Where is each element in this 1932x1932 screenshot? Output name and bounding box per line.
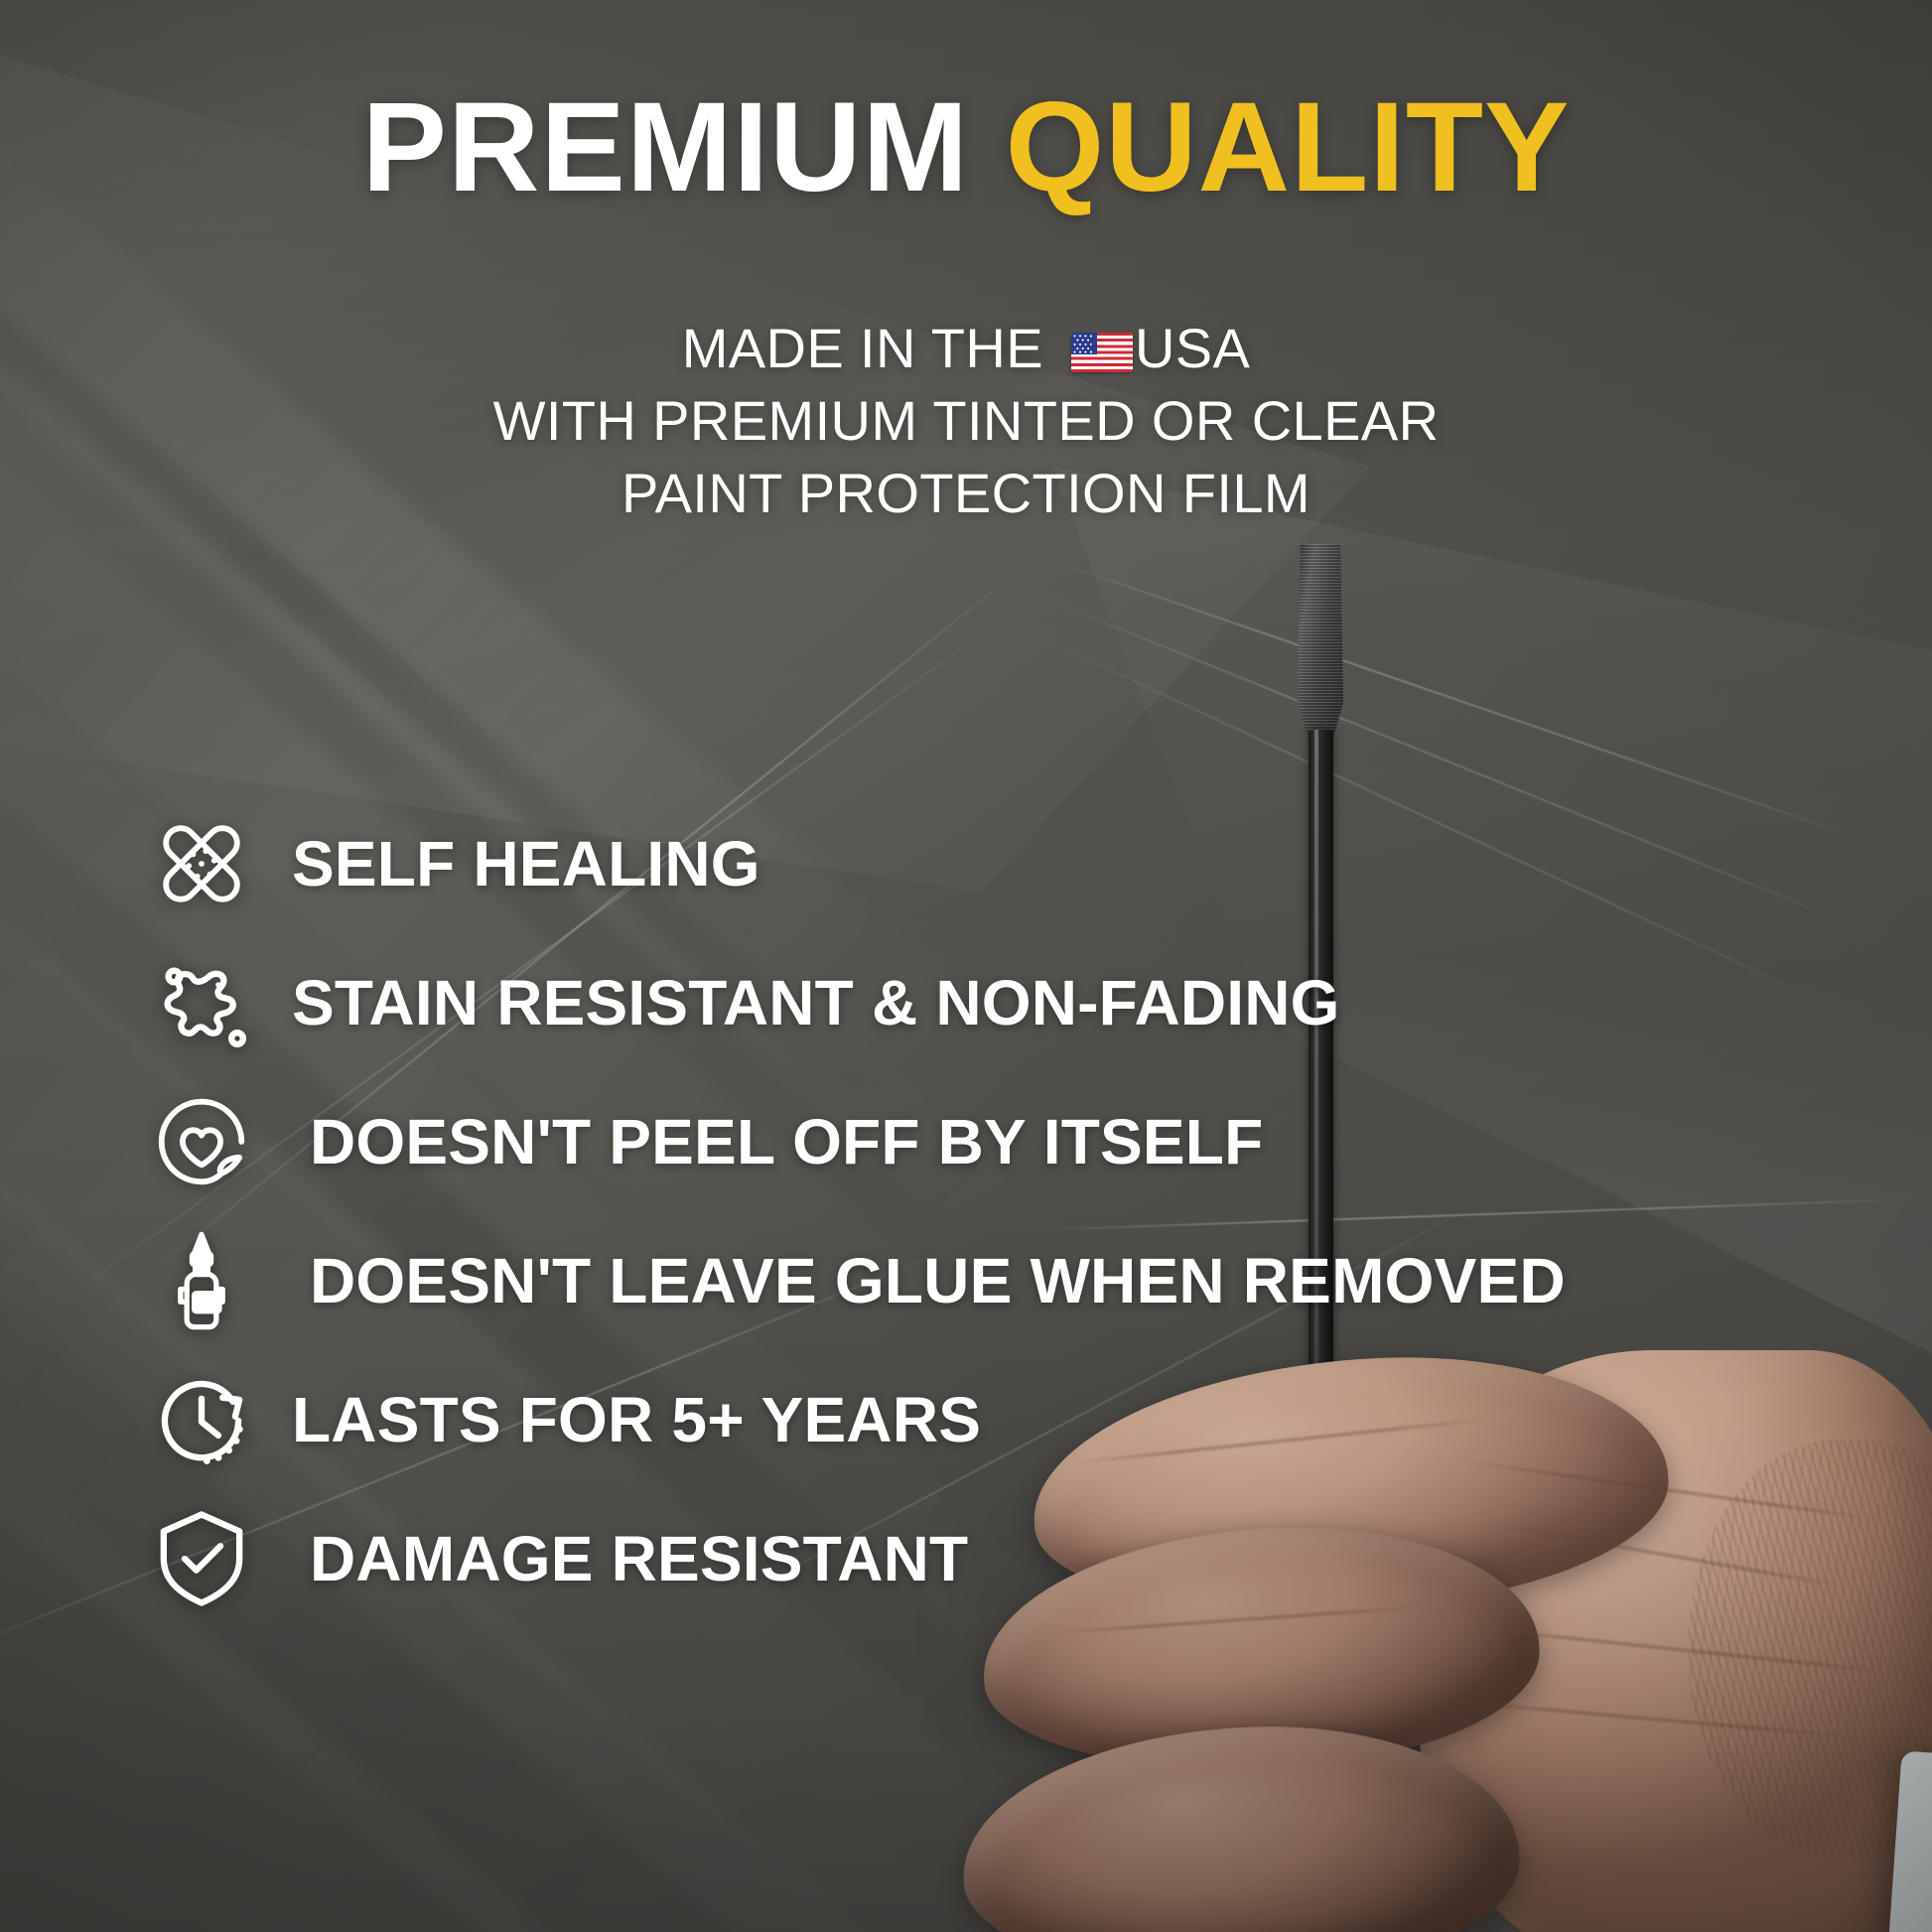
feature-label: LASTS FOR 5+ YEARS [292, 1383, 981, 1456]
feature-item-stain-resistant: STAIN RESISTANT & NON-FADING [149, 933, 1837, 1072]
poster-content: PREMIUM QUALITY MADE IN THE USA WITH PRE… [0, 0, 1932, 1932]
product-feature-poster: PREMIUM QUALITY MADE IN THE USA WITH PRE… [0, 0, 1932, 1932]
subtitle-made-in-the: MADE IN THE [682, 317, 1059, 379]
feature-item-damage-resistant: DAMAGE RESISTANT [149, 1489, 1837, 1628]
subtitle-block: MADE IN THE USA WITH PREMIUM TINTED OR C… [0, 313, 1932, 529]
feature-item-no-glue: DOESN'T LEAVE GLUE WHEN REMOVED [149, 1211, 1837, 1350]
stain-splatter-icon [149, 950, 254, 1055]
subtitle-usa: USA [1135, 317, 1250, 379]
page-title: PREMIUM QUALITY [0, 83, 1932, 213]
feature-label: DOESN'T LEAVE GLUE WHEN REMOVED [292, 1244, 1566, 1317]
headline-accent: QUALITY [1006, 76, 1571, 218]
feature-item-self-healing: SELF HEALING [149, 794, 1837, 933]
subtitle-line-1: MADE IN THE USA [0, 313, 1932, 385]
feature-label: SELF HEALING [292, 827, 760, 900]
feature-item-no-peel: DOESN'T PEEL OFF BY ITSELF [149, 1072, 1837, 1211]
feature-item-lasts-years: LASTS FOR 5+ YEARS [149, 1350, 1837, 1489]
bandage-cross-icon [149, 811, 254, 916]
shield-check-icon [149, 1506, 254, 1611]
subtitle-line-2: WITH PREMIUM TINTED OR CLEAR [0, 385, 1932, 458]
glue-bottle-icon [149, 1228, 254, 1333]
usa-flag-icon [1071, 333, 1133, 372]
subtitle-line-3: PAINT PROTECTION FILM [0, 458, 1932, 530]
feature-label: DOESN'T PEEL OFF BY ITSELF [292, 1105, 1263, 1178]
clock-arrow-icon [149, 1367, 254, 1472]
headline-primary: PREMIUM [362, 76, 1006, 218]
feature-label: STAIN RESISTANT & NON-FADING [292, 966, 1340, 1039]
feature-label: DAMAGE RESISTANT [292, 1522, 968, 1595]
sticker-heart-peel-icon [149, 1089, 254, 1194]
feature-list: SELF HEALING STAIN RESISTANT & NON-FADIN… [149, 794, 1837, 1628]
